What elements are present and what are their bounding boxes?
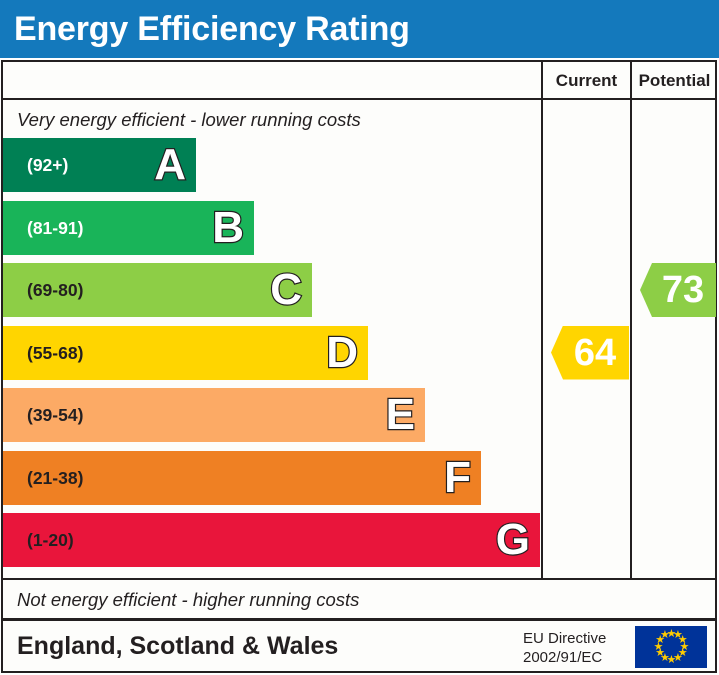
band-letter-b: B — [212, 200, 244, 256]
footer: England, Scotland & Wales EU Directive 2… — [3, 621, 715, 671]
band-g: (1-20)G — [3, 513, 540, 567]
column-divider-current — [541, 62, 543, 580]
eu-star-icon: ★ — [660, 631, 669, 640]
band-range-c: (69-80) — [27, 263, 83, 317]
band-range-d: (55-68) — [27, 326, 83, 380]
eu-directive-line2: 2002/91/EC — [523, 648, 606, 667]
potential-rating-marker: 73 — [640, 263, 716, 317]
eu-directive-label: EU Directive 2002/91/EC — [523, 629, 606, 667]
potential-rating-value: 73 — [652, 268, 704, 312]
eu-flag-icon: ★★★★★★★★★★★★ — [635, 626, 707, 668]
band-d: (55-68)D — [3, 326, 368, 380]
caption-not-efficient: Not energy efficient - higher running co… — [17, 589, 359, 611]
eu-directive-line1: EU Directive — [523, 629, 606, 648]
band-letter-g: G — [496, 512, 530, 568]
band-letter-c: C — [270, 262, 302, 318]
band-letter-e: E — [386, 387, 415, 443]
band-letter-d: D — [326, 325, 358, 381]
energy-efficiency-rating-chart: Energy Efficiency Rating Current Potenti… — [0, 0, 719, 675]
band-range-g: (1-20) — [27, 513, 74, 567]
band-range-a: (92+) — [27, 138, 68, 192]
band-range-b: (81-91) — [27, 201, 83, 255]
caption-very-efficient: Very energy efficient - lower running co… — [17, 109, 361, 131]
current-rating-marker: 64 — [551, 326, 629, 380]
chart-title-bar: Energy Efficiency Rating — [0, 0, 719, 58]
band-a: (92+)A — [3, 138, 196, 192]
region-label: England, Scotland & Wales — [17, 627, 338, 665]
band-b: (81-91)B — [3, 201, 254, 255]
band-letter-f: F — [444, 450, 471, 506]
column-divider-potential — [630, 62, 632, 580]
rating-bands: (92+)A(81-91)B(69-80)C(55-68)D(39-54)E(2… — [3, 138, 541, 578]
bottom-separator — [3, 578, 715, 580]
band-f: (21-38)F — [3, 451, 481, 505]
band-c: (69-80)C — [3, 263, 312, 317]
column-header-potential: Potential — [632, 62, 717, 100]
column-header-current: Current — [543, 62, 630, 100]
band-e: (39-54)E — [3, 388, 425, 442]
current-rating-value: 64 — [564, 331, 616, 375]
band-range-f: (21-38) — [27, 451, 83, 505]
band-letter-a: A — [154, 137, 186, 193]
page-title: Energy Efficiency Rating — [14, 6, 410, 52]
band-range-e: (39-54) — [27, 388, 83, 442]
chart-frame: Current Potential Very energy efficient … — [1, 60, 717, 673]
